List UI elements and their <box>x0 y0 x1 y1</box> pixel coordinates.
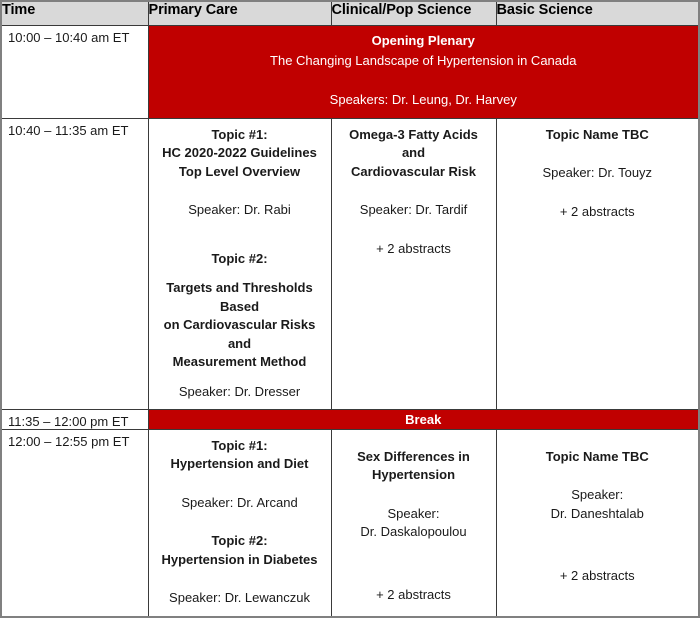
topic-1-speaker: Speaker: Dr. Arcand <box>155 494 325 512</box>
opening-plenary-banner: Opening Plenary The Changing Landscape o… <box>148 25 699 119</box>
session-speaker-label: Speaker: <box>503 486 693 504</box>
table-row: 11:35 – 12:00 pm ET Break <box>1 410 699 430</box>
spacer <box>338 181 490 201</box>
spacer <box>155 372 325 383</box>
table-header-row: Time Primary Care Clinical/Pop Science B… <box>1 1 699 25</box>
topic-1-title-line-1: Hypertension and Diet <box>155 455 325 473</box>
spacer <box>155 220 325 250</box>
time-slot-session-one: 10:40 – 11:35 am ET <box>1 119 148 410</box>
session-title: Topic Name TBC <box>503 448 693 466</box>
topic-1-title-line-1: HC 2020-2022 Guidelines <box>155 144 325 162</box>
session-speaker: Speaker: Dr. Touyz <box>503 164 693 182</box>
spacer <box>503 466 693 486</box>
session-abstracts-count: + 2 abstracts <box>338 240 490 258</box>
session-primary-care-one: Topic #1: HC 2020-2022 Guidelines Top Le… <box>148 119 331 410</box>
spacer <box>338 437 490 448</box>
topic-2-label: Topic #2: <box>155 250 325 268</box>
spacer <box>155 474 325 494</box>
time-slot-session-two: 12:00 – 12:55 pm ET <box>1 430 148 617</box>
session-title-line-2: Cardiovascular Risk <box>338 163 490 181</box>
opening-plenary-speakers: Speakers: Dr. Leung, Dr. Harvey <box>157 91 691 110</box>
session-speaker: Speaker: Dr. Tardif <box>338 201 490 219</box>
topic-2-speaker: Speaker: Dr. Dresser <box>155 383 325 401</box>
column-header-primary-care: Primary Care <box>148 1 331 25</box>
session-title-line-1: Sex Differences in <box>338 448 490 466</box>
spacer <box>155 569 325 589</box>
topic-2-title-line-1: Targets and Thresholds Based <box>155 279 325 316</box>
topic-1-title-line-2: Top Level Overview <box>155 163 325 181</box>
topic-2-title-line-1: Hypertension in Diabetes <box>155 551 325 569</box>
spacer <box>503 144 693 164</box>
time-slot-break: 11:35 – 12:00 pm ET <box>1 410 148 430</box>
spacer <box>338 542 490 586</box>
conference-schedule-table: Time Primary Care Clinical/Pop Science B… <box>0 0 700 618</box>
session-basic-science-two: Topic Name TBC Speaker: Dr. Daneshtalab … <box>496 430 699 617</box>
topic-2-title-line-3: Measurement Method <box>155 353 325 371</box>
session-abstracts-count: + 2 abstracts <box>503 567 693 585</box>
spacer <box>503 437 693 448</box>
opening-plenary-title: Opening Plenary <box>157 32 691 51</box>
break-banner: Break <box>148 410 699 430</box>
column-header-time: Time <box>1 1 148 25</box>
table-row: 10:00 – 10:40 am ET Opening Plenary The … <box>1 25 699 119</box>
topic-1-label: Topic #1: <box>155 437 325 455</box>
opening-plenary-subtitle: The Changing Landscape of Hypertension i… <box>157 52 691 71</box>
session-clinical-pop-science-one: Omega-3 Fatty Acids and Cardiovascular R… <box>331 119 496 410</box>
session-title: Topic Name TBC <box>503 126 693 144</box>
spacer <box>338 220 490 240</box>
topic-1-speaker: Speaker: Dr. Rabi <box>155 201 325 219</box>
session-title-line-2: Hypertension <box>338 466 490 484</box>
spacer <box>155 268 325 279</box>
break-label: Break <box>149 412 699 427</box>
session-title-line-1: Omega-3 Fatty Acids and <box>338 126 490 163</box>
session-speaker-name: Dr. Daskalopoulou <box>338 523 490 541</box>
session-speaker-label: Speaker: <box>338 505 490 523</box>
topic-2-title-line-2: on Cardiovascular Risks and <box>155 316 325 353</box>
spacer <box>155 512 325 532</box>
topic-2-label: Topic #2: <box>155 532 325 550</box>
topic-1-label: Topic #1: <box>155 126 325 144</box>
spacer <box>503 523 693 567</box>
column-header-clinical-pop-science: Clinical/Pop Science <box>331 1 496 25</box>
spacer <box>338 485 490 505</box>
topic-2-speaker: Speaker: Dr. Lewanczuk <box>155 589 325 607</box>
session-clinical-pop-science-two: Sex Differences in Hypertension Speaker:… <box>331 430 496 617</box>
spacer <box>155 181 325 201</box>
column-header-basic-science: Basic Science <box>496 1 699 25</box>
session-primary-care-two: Topic #1: Hypertension and Diet Speaker:… <box>148 430 331 617</box>
table-row: 10:40 – 11:35 am ET Topic #1: HC 2020-20… <box>1 119 699 410</box>
session-basic-science-one: Topic Name TBC Speaker: Dr. Touyz + 2 ab… <box>496 119 699 410</box>
session-abstracts-count: + 2 abstracts <box>338 586 490 604</box>
time-slot-opening-plenary: 10:00 – 10:40 am ET <box>1 25 148 119</box>
session-speaker-name: Dr. Daneshtalab <box>503 505 693 523</box>
table-row: 12:00 – 12:55 pm ET Topic #1: Hypertensi… <box>1 430 699 617</box>
spacer <box>503 183 693 203</box>
session-abstracts-count: + 2 abstracts <box>503 203 693 221</box>
